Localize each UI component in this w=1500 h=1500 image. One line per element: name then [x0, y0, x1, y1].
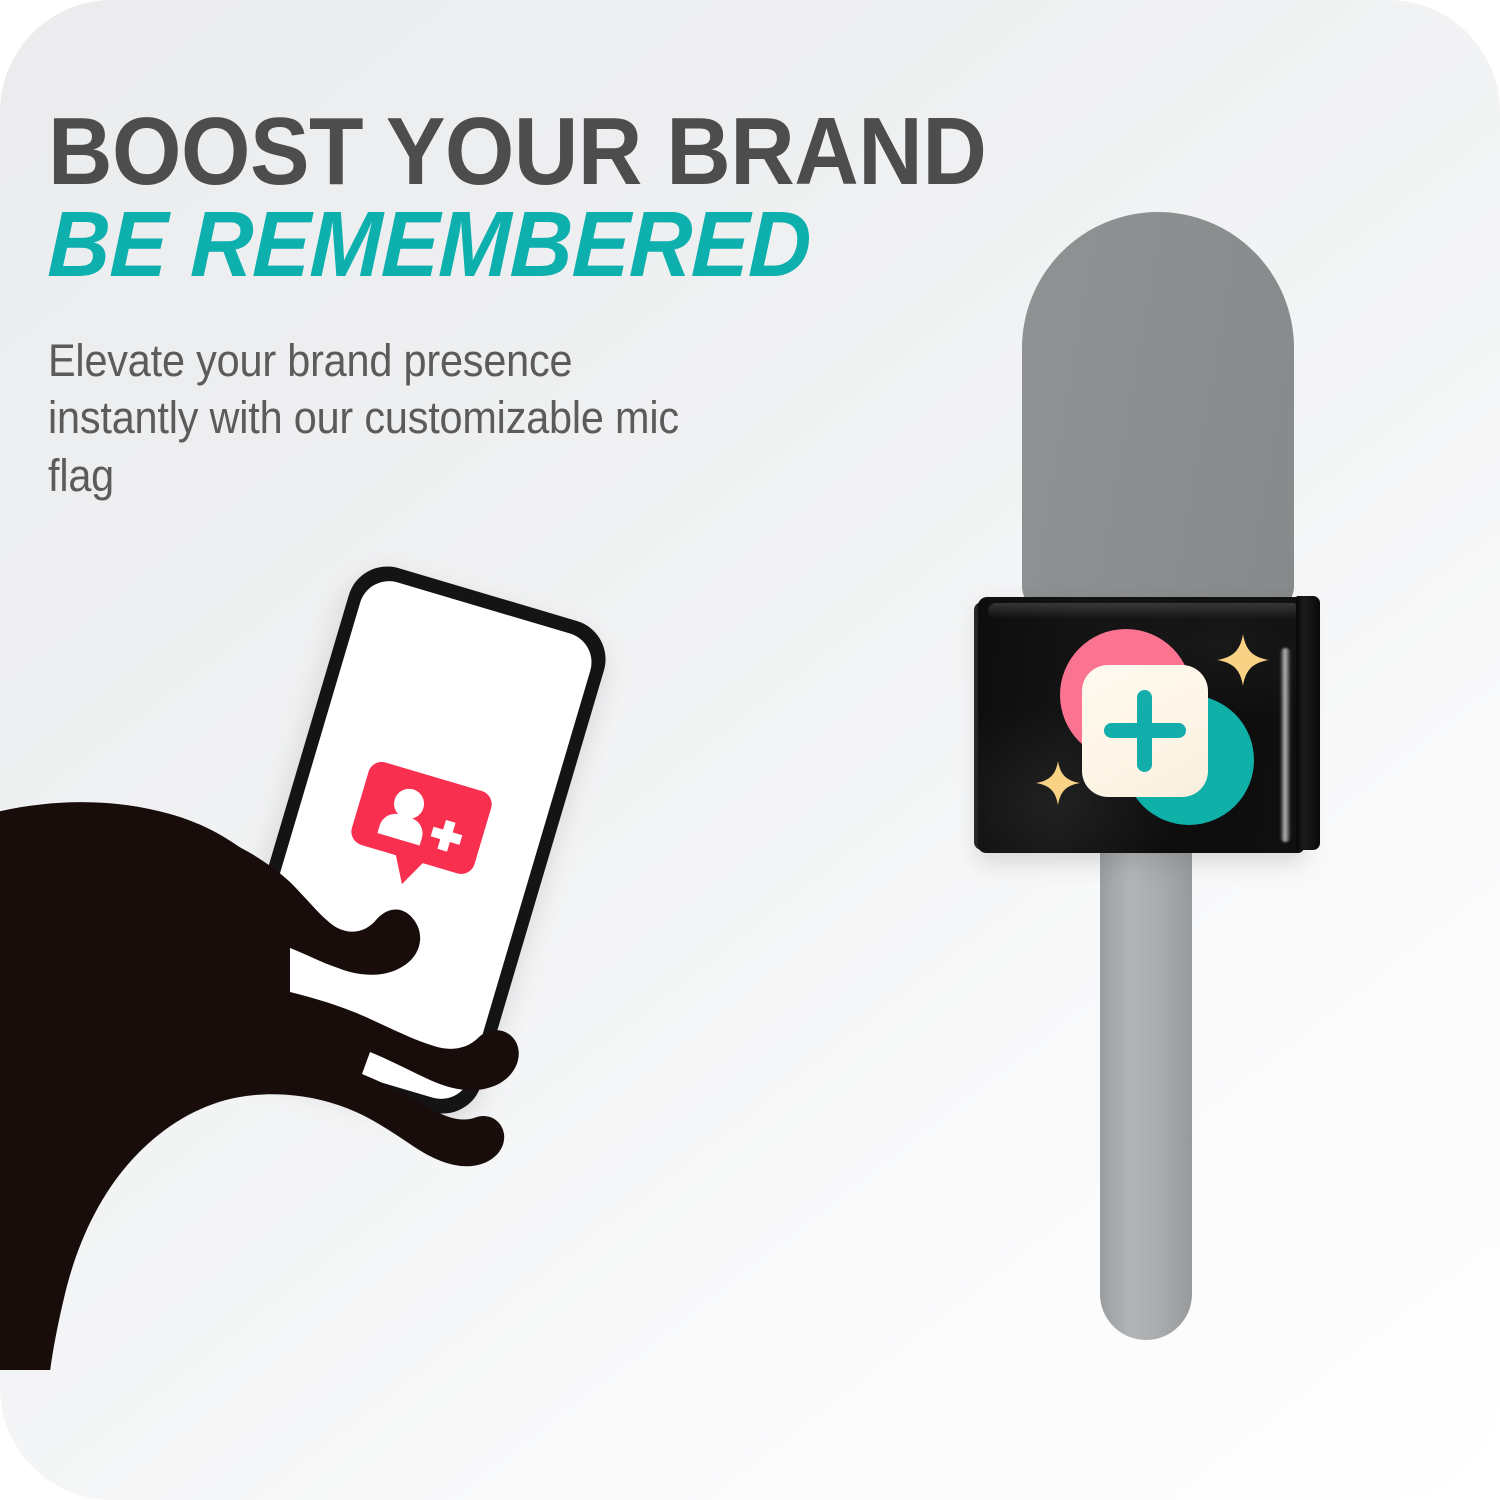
microphone-handle — [1100, 840, 1192, 1340]
headline-primary: BOOST YOUR BRAND — [48, 108, 736, 196]
plus-icon-vertical-bar — [1137, 690, 1152, 772]
mic-flag-right-edge — [1296, 596, 1320, 850]
mic-flag-front-panel — [978, 597, 1304, 853]
phone-in-hand-illustration — [0, 560, 700, 1360]
subtitle-text: Elevate your brand presence instantly wi… — [48, 332, 692, 505]
microphone-head — [1022, 212, 1294, 612]
poster-canvas: BOOST YOUR BRAND BE REMEMBERED Elevate y… — [0, 0, 1500, 1500]
sparkle-icon — [1216, 633, 1270, 687]
sparkle-icon — [1035, 760, 1081, 806]
microphone-illustration — [960, 200, 1360, 1380]
marketing-copy-block: BOOST YOUR BRAND BE REMEMBERED Elevate y… — [48, 108, 788, 505]
mic-flag-top-sheen — [988, 603, 1300, 619]
headline-secondary: BE REMEMBERED — [47, 202, 738, 288]
hand-silhouette — [0, 730, 630, 1370]
mic-flag-gloss-highlight — [1280, 648, 1291, 842]
mic-flag-box — [974, 592, 1324, 854]
